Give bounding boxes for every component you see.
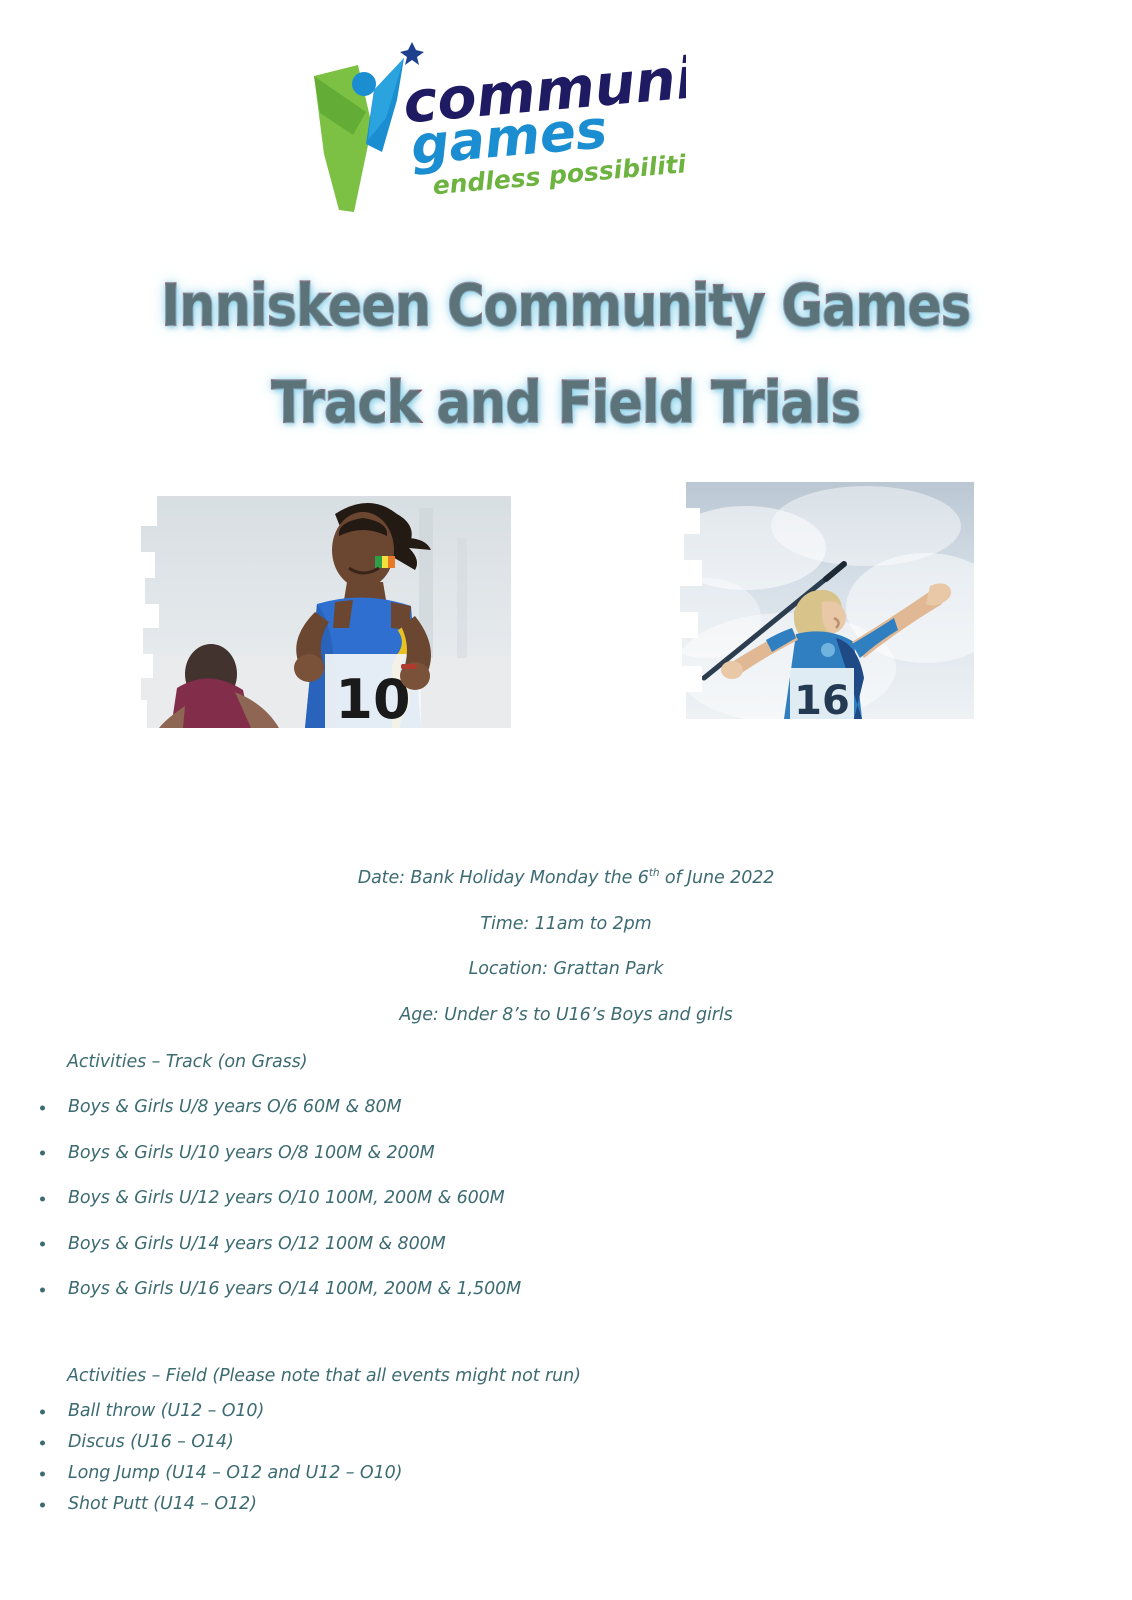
- logo-svg: community games endless possibilities: [296, 34, 686, 220]
- list-item: Ball throw (U12 – O10): [0, 1396, 1060, 1427]
- community-games-logo: community games endless possibilities: [296, 34, 686, 220]
- field-event-label: Discus (U16 – O14): [68, 1432, 234, 1452]
- bullet-icon: [40, 1502, 45, 1507]
- track-event-label: Boys & Girls U/16 years O/14 100M, 200M …: [68, 1279, 521, 1299]
- detail-location: Location: Grattan Park: [0, 947, 1132, 993]
- detail-date-text-before: Date: Bank Holiday Monday the 6: [358, 868, 649, 888]
- track-section-heading: Activities – Track (on Grass): [0, 1040, 1060, 1085]
- field-activities-section: Activities – Field (Please note that all…: [0, 1356, 1060, 1520]
- list-item: Boys & Girls U/14 years O/12 100M & 800M: [0, 1222, 1060, 1268]
- field-section-heading: Activities – Field (Please note that all…: [0, 1356, 1060, 1396]
- page-title-line-2: Track and Field Trials: [68, 355, 1064, 452]
- bullet-icon: [40, 1440, 45, 1445]
- bullet-icon: [40, 1196, 45, 1201]
- photo-row: 10: [0, 470, 1132, 730]
- list-item: Shot Putt (U14 – O12): [0, 1489, 1060, 1520]
- bullet-icon: [40, 1242, 45, 1247]
- bullet-icon: [40, 1287, 45, 1292]
- field-event-label: Shot Putt (U14 – O12): [68, 1494, 257, 1514]
- track-event-label: Boys & Girls U/14 years O/12 100M & 800M: [68, 1234, 446, 1254]
- field-event-list: Ball throw (U12 – O10) Discus (U16 – O14…: [0, 1396, 1060, 1520]
- bullet-icon: [40, 1471, 45, 1476]
- logo-star-icon: [400, 42, 424, 65]
- javelin-bib-number: 16: [794, 678, 850, 719]
- runner-photo: 10: [139, 478, 519, 728]
- track-event-label: Boys & Girls U/12 years O/10 100M, 200M …: [68, 1188, 505, 1208]
- bullet-icon: [40, 1409, 45, 1414]
- field-event-label: Long Jump (U14 – O12 and U12 – O10): [68, 1463, 402, 1483]
- list-item: Boys & Girls U/12 years O/10 100M, 200M …: [0, 1176, 1060, 1222]
- detail-date: Date: Bank Holiday Monday the 6th of Jun…: [0, 856, 1132, 902]
- page-title-line-1: Inniskeen Community Games: [68, 258, 1064, 355]
- runner-bib-number: 10: [335, 668, 410, 728]
- track-activities-section: Activities – Track (on Grass) Boys & Gir…: [0, 1040, 1060, 1313]
- bullet-icon: [40, 1151, 45, 1156]
- event-details: Date: Bank Holiday Monday the 6th of Jun…: [0, 856, 1132, 1038]
- list-item: Boys & Girls U/8 years O/6 60M & 80M: [0, 1085, 1060, 1131]
- field-event-label: Ball throw (U12 – O10): [68, 1401, 264, 1421]
- list-item: Discus (U16 – O14): [0, 1427, 1060, 1458]
- runner-photo-svg: 10: [139, 478, 519, 728]
- list-item: Boys & Girls U/16 years O/14 100M, 200M …: [0, 1267, 1060, 1313]
- bullet-icon: [40, 1105, 45, 1110]
- page-title: Inniskeen Community Games Track and Fiel…: [0, 258, 1132, 452]
- javelin-photo: 16: [676, 478, 974, 719]
- javelin-photo-svg: 16: [676, 478, 974, 719]
- list-item: Boys & Girls U/10 years O/8 100M & 200M: [0, 1131, 1060, 1177]
- detail-date-text-after: of June 2022: [659, 868, 774, 888]
- logo-figure-head: [352, 72, 376, 96]
- track-event-list: Boys & Girls U/8 years O/6 60M & 80M Boy…: [0, 1085, 1060, 1313]
- list-item: Long Jump (U14 – O12 and U12 – O10): [0, 1458, 1060, 1489]
- detail-age: Age: Under 8’s to U16’s Boys and girls: [0, 993, 1132, 1039]
- track-event-label: Boys & Girls U/10 years O/8 100M & 200M: [68, 1143, 435, 1163]
- detail-date-superscript: th: [649, 867, 660, 879]
- detail-time: Time: 11am to 2pm: [0, 902, 1132, 948]
- track-event-label: Boys & Girls U/8 years O/6 60M & 80M: [68, 1097, 402, 1117]
